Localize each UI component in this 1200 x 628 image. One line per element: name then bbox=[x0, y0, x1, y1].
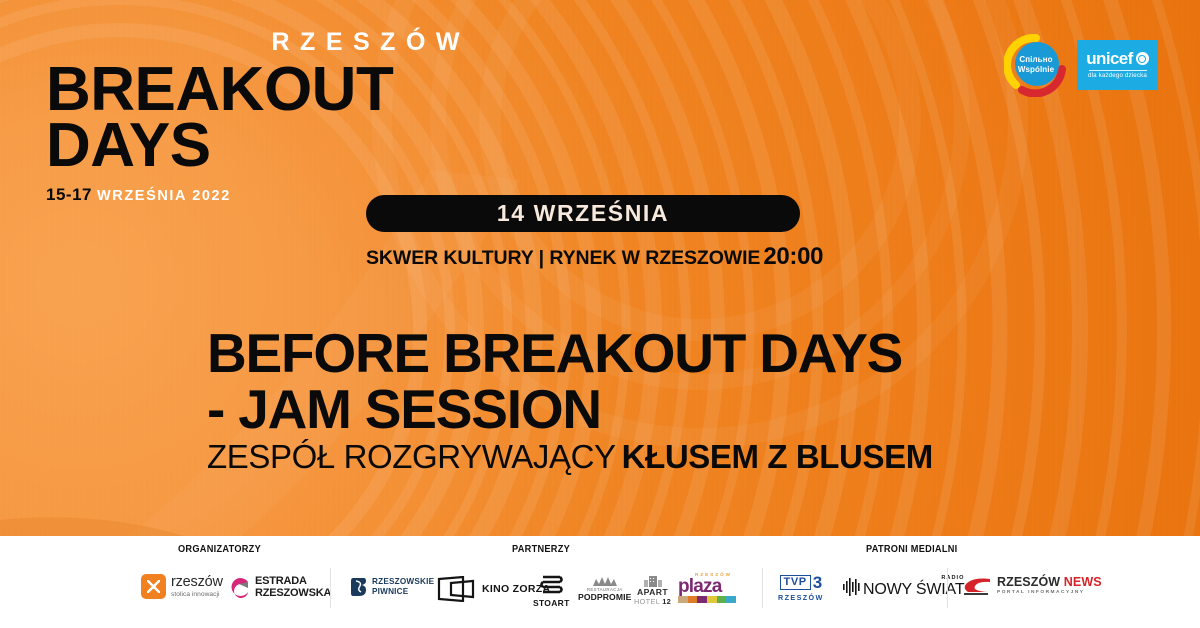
spilno-line-ua: Спільно bbox=[1019, 55, 1052, 65]
logo-tvp3-rzeszow[interactable]: TVP 3 RZESZÓW bbox=[778, 574, 824, 602]
festival-date-range: 15-17 bbox=[46, 185, 92, 204]
podpromie-crown-icon bbox=[592, 574, 618, 586]
tvp-channel-number: 3 bbox=[813, 574, 822, 591]
event-title: BEFORE BREAKOUT DAYS - JAM SESSION bbox=[207, 327, 1027, 436]
footer: ORGANIZATORZY PARTNERZY PATRONI MEDIALNI… bbox=[0, 536, 1200, 628]
kino-zorza-screen-icon bbox=[437, 576, 477, 602]
apart-sub: HOTEL 12 bbox=[634, 598, 671, 605]
footer-divider-1 bbox=[330, 568, 331, 608]
footer-heading-organizers: ORGANIZATORZY bbox=[178, 544, 261, 555]
logo-stoart[interactable]: STOART bbox=[533, 574, 570, 608]
event-band-line: ZESPÓŁ ROZGRYWAJĄCYKŁUSEM Z BLUSEM bbox=[207, 440, 1037, 473]
tvp-wordmark: TVP bbox=[780, 575, 811, 590]
tvp-row: TVP 3 bbox=[780, 574, 823, 591]
apart-name: APART bbox=[637, 588, 668, 597]
rzeszow-news-name: RZESZÓW NEWS bbox=[997, 576, 1102, 589]
sponsor-logos: Спільно Wspólnie unicef dla każdego dzie… bbox=[1004, 33, 1158, 97]
event-title-line1: BEFORE BREAKOUT DAYS bbox=[207, 322, 902, 384]
footer-headings: ORGANIZATORZY PARTNERZY PATRONI MEDIALNI bbox=[0, 536, 1200, 560]
radio-waveform-icon bbox=[843, 577, 860, 597]
logo-plaza-rzeszow[interactable]: RZESZÓW plaza bbox=[678, 573, 736, 603]
festival-logo-city: RZESZÓW bbox=[46, 30, 476, 55]
unicef-emblem-icon bbox=[1136, 52, 1149, 65]
logo-restauracja-podpromie[interactable]: RESTAURACJA PODPROMIE bbox=[578, 574, 631, 602]
unicef-tagline: dla każdego dziecka bbox=[1088, 73, 1147, 79]
footer-heading-media: PATRONI MEDIALNI bbox=[866, 544, 957, 555]
event-time: 20:00 bbox=[763, 243, 823, 270]
apart-sub-text: HOTEL bbox=[634, 597, 660, 606]
apart-hotel-building-icon bbox=[640, 574, 666, 586]
event-poster: RZESZÓW BREAKOUT DAYS 15-17WRZEŚNIA 2022… bbox=[0, 0, 1200, 628]
event-title-line2: - JAM SESSION bbox=[207, 383, 1027, 436]
spilno-wspolnie-logo: Спільно Wspólnie bbox=[1004, 33, 1068, 97]
event-venue-text: SKWER KULTURY | RYNEK W RZESZOWIE bbox=[366, 247, 760, 269]
logo-estrada-rzeszowska[interactable]: ESTRADA RZESZOWSKA bbox=[228, 575, 331, 600]
unicef-logo: unicef dla każdego dziecka bbox=[1077, 40, 1158, 90]
rzeszow-mark-icon bbox=[141, 574, 166, 599]
tvp-city: RZESZÓW bbox=[778, 593, 824, 602]
festival-date-month: WRZEŚNIA 2022 bbox=[97, 188, 231, 204]
rzeszow-logo-tagline: stolica innowacji bbox=[171, 592, 223, 599]
rzeszow-news-word2: NEWS bbox=[1064, 575, 1102, 589]
rzeszow-news-swoosh-icon bbox=[962, 576, 992, 596]
estrada-line1: ESTRADA bbox=[255, 575, 331, 587]
band-prefix: ZESPÓŁ ROZGRYWAJĄCY bbox=[207, 438, 616, 475]
logo-apart-hotel-12[interactable]: APART HOTEL 12 bbox=[634, 574, 671, 605]
footer-divider-2 bbox=[762, 568, 763, 608]
plaza-color-bar bbox=[678, 596, 736, 603]
apart-number: 12 bbox=[662, 597, 671, 606]
footer-divider-3 bbox=[947, 568, 948, 608]
band-name: KŁUSEM Z BLUSEM bbox=[622, 438, 933, 475]
footer-logo-row: rzeszów stolica innowacji ESTRADA RZESZO… bbox=[0, 562, 1200, 624]
rzeszow-logo-name: rzeszów bbox=[171, 575, 223, 590]
piwnice-line1: RZESZOWSKIE bbox=[372, 577, 434, 587]
podpromie-name: PODPROMIE bbox=[578, 593, 631, 602]
radio-name: NOWY ŚWIAT bbox=[863, 582, 964, 598]
festival-logo: RZESZÓW BREAKOUT DAYS 15-17WRZEŚNIA 2022 bbox=[46, 30, 476, 203]
rzeszow-news-sub: PORTAL INFORMACYJNY bbox=[997, 591, 1102, 596]
logo-rzeszow-stolica-innowacji[interactable]: rzeszów stolica innowacji bbox=[141, 574, 223, 599]
spilno-line-pl: Wspólnie bbox=[1018, 65, 1054, 75]
festival-logo-days: DAYS bbox=[46, 116, 476, 176]
unicef-wordmark: unicef bbox=[1086, 50, 1132, 67]
unicef-divider bbox=[1089, 70, 1147, 71]
logo-rzeszow-news[interactable]: RZESZÓW NEWS PORTAL INFORMACYJNY bbox=[962, 576, 1102, 596]
piwnice-mark-icon bbox=[350, 576, 367, 598]
estrada-line2: RZESZOWSKA bbox=[255, 587, 331, 599]
festival-logo-breakout: BREAKOUT bbox=[46, 61, 476, 118]
radio-text-block: RADIO NOWY ŚWIAT bbox=[863, 576, 964, 598]
piwnice-line2: PIWNICE bbox=[372, 587, 434, 597]
logo-rzeszowskie-piwnice[interactable]: RZESZOWSKIE PIWNICE bbox=[350, 576, 434, 598]
event-date-badge: 14 WRZEŚNIA bbox=[366, 195, 800, 232]
rzeszow-news-word1: RZESZÓW bbox=[997, 575, 1060, 589]
unicef-wordmark-row: unicef bbox=[1086, 50, 1148, 67]
stoart-name: STOART bbox=[533, 598, 570, 608]
estrada-swirl-icon bbox=[228, 576, 250, 598]
spilno-wspolnie-text: Спільно Wspólnie bbox=[1004, 33, 1068, 97]
stoart-mark-icon bbox=[539, 574, 564, 597]
footer-heading-partners: PARTNERZY bbox=[512, 544, 570, 555]
event-date-text: 14 WRZEŚNIA bbox=[497, 202, 669, 225]
event-venue-line: SKWER KULTURY | RYNEK W RZESZOWIE20:00 bbox=[366, 243, 836, 271]
plaza-word: plaza bbox=[678, 578, 736, 595]
plaza-logo-inner: RZESZÓW plaza bbox=[678, 573, 736, 603]
